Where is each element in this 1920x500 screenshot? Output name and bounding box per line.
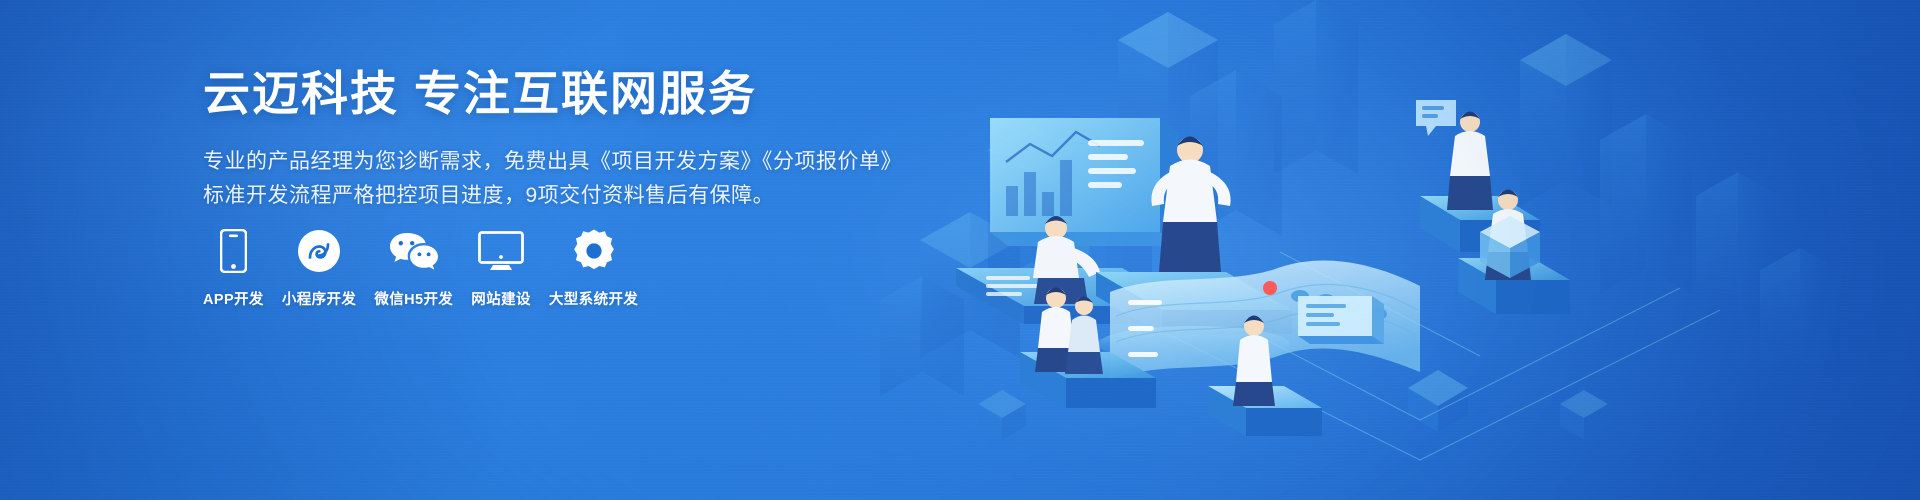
service-item-wechat-h5[interactable]: 微信H5开发: [374, 228, 453, 309]
isometric-illustration: [860, 0, 1920, 500]
service-label: APP开发: [203, 288, 264, 309]
page-title: 云迈科技 专注互联网服务: [203, 68, 903, 121]
service-item-app[interactable]: APP开发: [203, 228, 264, 309]
promo-banner: 云迈科技 专注互联网服务 专业的产品经理为您诊断需求，免费出具《项目开发方案》《…: [0, 0, 1920, 500]
service-item-website[interactable]: 网站建设: [471, 228, 531, 309]
service-item-mini-program[interactable]: 小程序开发: [282, 228, 357, 309]
subtitle-line-2: 标准开发流程严格把控项目进度，9项交付资料售后有保障。: [203, 179, 903, 213]
service-label: 大型系统开发: [549, 288, 638, 309]
mini-screen-card: [1298, 296, 1384, 344]
mini-program-icon: [297, 228, 341, 274]
banner-copy: 云迈科技 专注互联网服务 专业的产品经理为您诊断需求，免费出具《项目开发方案》《…: [203, 68, 903, 213]
service-list: APP开发 小程序开发: [203, 228, 638, 309]
subtitle-line-1: 专业的产品经理为您诊断需求，免费出具《项目开发方案》《分项报价单》: [203, 145, 903, 179]
wechat-icon: [388, 228, 440, 274]
mobile-phone-icon: [220, 228, 247, 274]
service-item-large-system[interactable]: 大型系统开发: [549, 228, 638, 309]
floating-tag-card: [1416, 100, 1456, 136]
gear-icon: [572, 228, 616, 274]
person-standing-right-upper: [1447, 112, 1493, 211]
service-label: 小程序开发: [282, 288, 357, 309]
monitor-icon: [478, 228, 524, 274]
alert-dot: [1263, 281, 1277, 295]
service-label: 网站建设: [471, 288, 531, 309]
service-label: 微信H5开发: [374, 288, 453, 309]
